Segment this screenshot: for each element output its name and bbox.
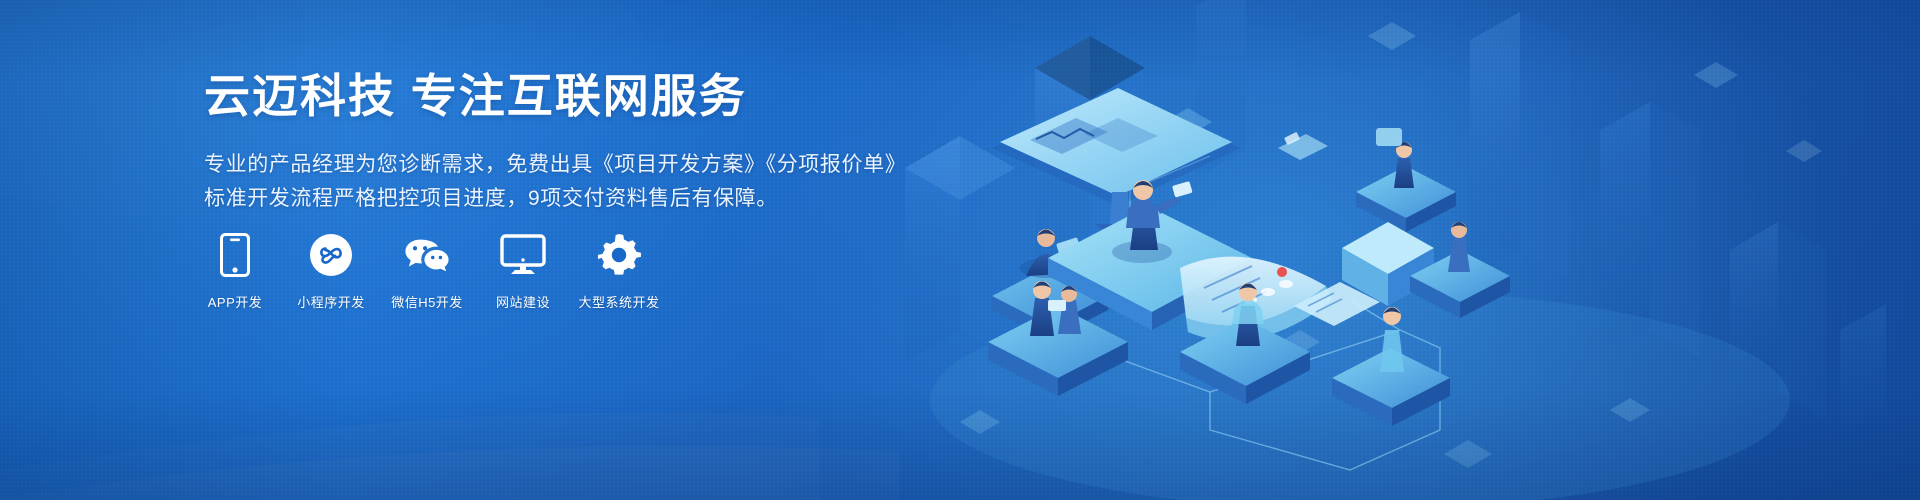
hero-subline-1: 专业的产品经理为您诊断需求，免费出具《项目开发方案》《分项报价单》 xyxy=(204,148,924,182)
mobile-phone-icon xyxy=(212,232,258,278)
service-label-website: 网站建设 xyxy=(496,292,550,311)
service-list: APP开发 小程序开发 xyxy=(200,232,654,311)
gear-icon xyxy=(596,232,642,278)
hero-headline: 云迈科技 专注互联网服务 xyxy=(204,68,924,126)
hero-subline-2: 标准开发流程严格把控项目进度，9项交付资料售后有保障。 xyxy=(204,182,924,216)
floating-chip xyxy=(1278,132,1328,160)
hero-subcopy: 专业的产品经理为您诊断需求，免费出具《项目开发方案》《分项报价单》 标准开发流程… xyxy=(204,148,924,216)
service-item-wechat-h5[interactable]: 微信H5开发 xyxy=(392,232,462,311)
hero-copy: 云迈科技 专注互联网服务 专业的产品经理为您诊断需求，免费出具《项目开发方案》《… xyxy=(204,68,924,216)
hero-illustration xyxy=(880,0,1920,500)
isometric-team-illustration xyxy=(880,0,1920,500)
monitor-icon xyxy=(500,232,546,278)
service-item-app[interactable]: APP开发 xyxy=(200,232,270,311)
service-item-website[interactable]: 网站建设 xyxy=(488,232,558,311)
service-label-wechat-h5: 微信H5开发 xyxy=(391,292,463,311)
service-label-mini-program: 小程序开发 xyxy=(297,292,365,311)
service-label-large-system: 大型系统开发 xyxy=(579,292,660,311)
service-item-mini-program[interactable]: 小程序开发 xyxy=(296,232,366,311)
mini-program-icon xyxy=(308,232,354,278)
service-item-large-system[interactable]: 大型系统开发 xyxy=(584,232,654,311)
hero-banner: 云迈科技 专注互联网服务 专业的产品经理为您诊断需求，免费出具《项目开发方案》《… xyxy=(0,0,1920,500)
wechat-icon xyxy=(404,232,450,278)
service-label-app: APP开发 xyxy=(208,292,263,311)
